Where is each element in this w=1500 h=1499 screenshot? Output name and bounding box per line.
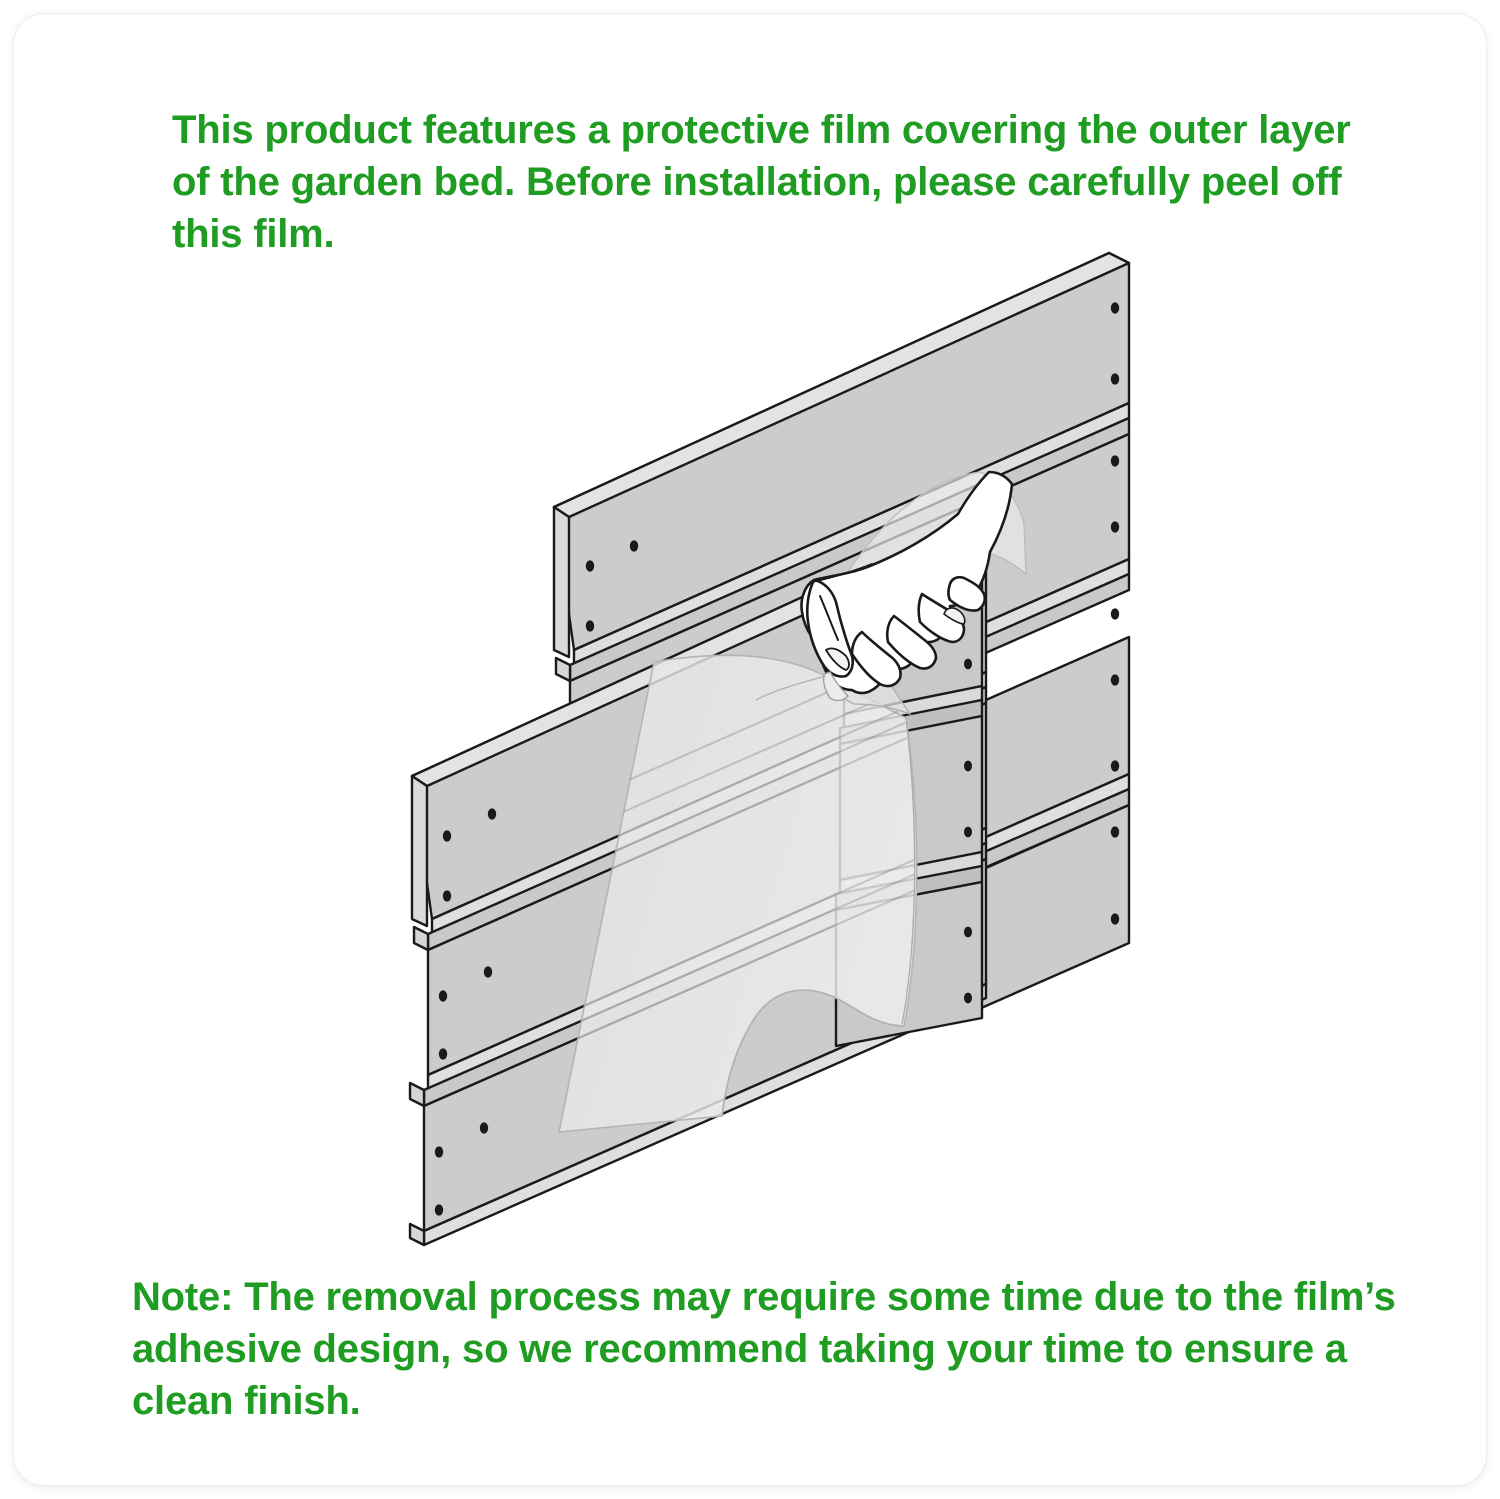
instruction-card: This product features a protective film … xyxy=(14,14,1486,1485)
garden-bed-film-illustration xyxy=(14,14,1486,1485)
bottom-note-text: Note: The removal process may require so… xyxy=(132,1271,1422,1427)
illustration-svg xyxy=(14,14,1486,1485)
